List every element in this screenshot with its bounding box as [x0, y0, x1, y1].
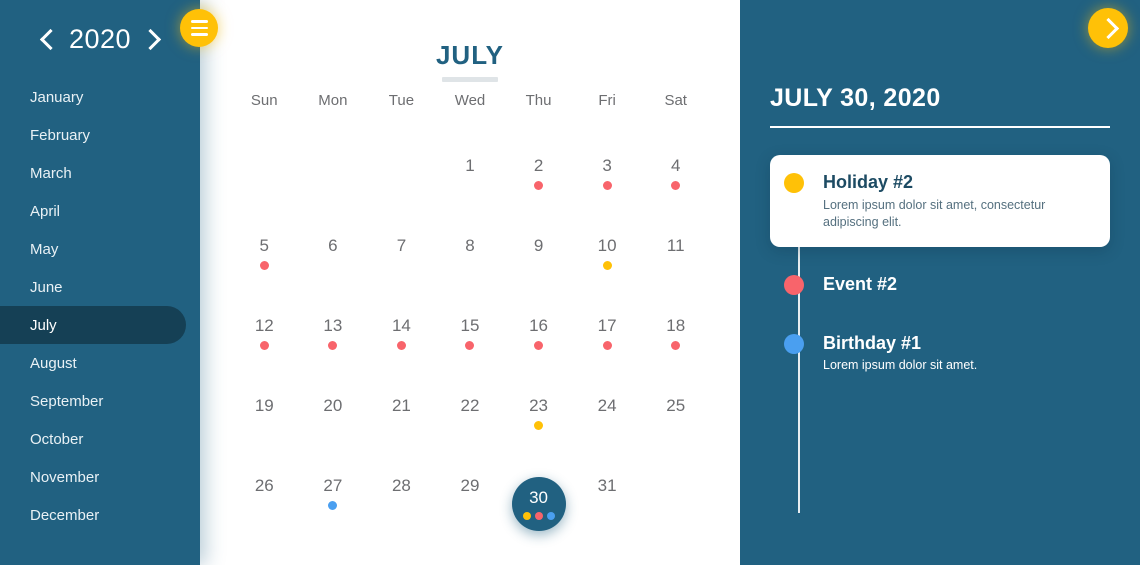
- calendar-day-4[interactable]: 4: [641, 140, 710, 220]
- event-dot-blue: [328, 501, 337, 510]
- sidebar-month-label: October: [30, 431, 83, 448]
- day-number: 26: [242, 476, 286, 496]
- sidebar-month-label: August: [30, 355, 77, 372]
- weekday-sun: Sun: [230, 92, 299, 109]
- sidebar-month-label: April: [30, 203, 60, 220]
- event-dot-red: [260, 341, 269, 350]
- calendar-day-9[interactable]: 9: [504, 220, 573, 300]
- calendar-day-8[interactable]: 8: [436, 220, 505, 300]
- calendar-day-26[interactable]: 26: [230, 460, 299, 540]
- hamburger-bar: [191, 20, 208, 23]
- sidebar-month-july[interactable]: July: [0, 306, 186, 344]
- detail-date-title: JULY 30, 2020: [770, 84, 941, 113]
- event-title: Holiday #2: [823, 171, 1092, 193]
- next-day-button[interactable]: [1088, 8, 1128, 48]
- detail-panel: JULY 30, 2020 Holiday #2Lorem ipsum dolo…: [740, 0, 1140, 565]
- weekday-header: SunMonTueWedThuFriSat: [230, 92, 710, 109]
- day-number: 10: [585, 236, 629, 256]
- calendar-day-13[interactable]: 13: [299, 300, 368, 380]
- sidebar-month-august[interactable]: August: [0, 344, 200, 382]
- sidebar-month-label: January: [30, 89, 83, 106]
- calendar-day-6[interactable]: 6: [299, 220, 368, 300]
- sidebar-month-december[interactable]: December: [0, 496, 200, 534]
- weekday-sat: Sat: [641, 92, 710, 109]
- day-event-dots: [465, 341, 474, 350]
- calendar-grid: 1234567891011121314151617181920212223242…: [230, 140, 710, 540]
- sidebar-month-march[interactable]: March: [0, 154, 200, 192]
- day-number: 18: [654, 316, 698, 336]
- sidebar: 2020 JanuaryFebruaryMarchAprilMayJuneJul…: [0, 0, 200, 565]
- event-body: Holiday #2Lorem ipsum dolor sit amet, co…: [823, 171, 1092, 231]
- calendar-day-15[interactable]: 15: [436, 300, 505, 380]
- calendar-day-10[interactable]: 10: [573, 220, 642, 300]
- hamburger-bar: [191, 33, 208, 36]
- event-item[interactable]: Birthday #1Lorem ipsum dolor sit amet.: [770, 324, 1120, 382]
- event-dot-blue: [784, 334, 804, 354]
- calendar-day-22[interactable]: 22: [436, 380, 505, 460]
- day-number: 11: [654, 236, 698, 256]
- year-navigator: 2020: [0, 16, 200, 62]
- calendar-day-18[interactable]: 18: [641, 300, 710, 380]
- day-number: 2: [517, 156, 561, 176]
- day-number: 17: [585, 316, 629, 336]
- calendar-day-29[interactable]: 29: [436, 460, 505, 540]
- event-row[interactable]: Event #2: [770, 265, 1110, 306]
- sidebar-month-january[interactable]: January: [0, 78, 200, 116]
- calendar-day-21[interactable]: 21: [367, 380, 436, 460]
- event-timeline: Holiday #2Lorem ipsum dolor sit amet, co…: [770, 155, 1120, 400]
- event-dot-red: [671, 341, 680, 350]
- day-number: 22: [448, 396, 492, 416]
- day-event-dots: [671, 341, 680, 350]
- day-number: 31: [585, 476, 629, 496]
- event-body: Birthday #1Lorem ipsum dolor sit amet.: [823, 332, 1092, 374]
- day-number: 7: [379, 236, 423, 256]
- calendar-day-25[interactable]: 25: [641, 380, 710, 460]
- event-dot-red: [534, 341, 543, 350]
- event-dot-red: [534, 181, 543, 190]
- hamburger-menu-button[interactable]: [180, 9, 218, 47]
- sidebar-month-label: May: [30, 241, 58, 258]
- calendar-day-31[interactable]: 31: [573, 460, 642, 540]
- event-dot-red: [603, 341, 612, 350]
- day-event-dots: [328, 341, 337, 350]
- event-dot-red: [535, 512, 543, 520]
- calendar-day-24[interactable]: 24: [573, 380, 642, 460]
- sidebar-month-label: November: [30, 469, 99, 486]
- event-card[interactable]: Holiday #2Lorem ipsum dolor sit amet, co…: [770, 155, 1110, 247]
- event-dot-red: [465, 341, 474, 350]
- weekday-fri: Fri: [573, 92, 642, 109]
- calendar-day-19[interactable]: 19: [230, 380, 299, 460]
- day-number: 28: [379, 476, 423, 496]
- sidebar-month-april[interactable]: April: [0, 192, 200, 230]
- day-number: 1: [448, 156, 492, 176]
- calendar-panel: JULY SunMonTueWedThuFriSat 1234567891011…: [200, 0, 740, 565]
- calendar-title-wrap: JULY: [200, 40, 740, 82]
- day-event-dots: [534, 341, 543, 350]
- calendar-day-5[interactable]: 5: [230, 220, 299, 300]
- day-event-dots: [328, 501, 337, 510]
- day-number: 14: [379, 316, 423, 336]
- day-number: 15: [448, 316, 492, 336]
- day-number: 13: [311, 316, 355, 336]
- calendar-app: 2020 JanuaryFebruaryMarchAprilMayJuneJul…: [0, 0, 1140, 565]
- calendar-day-17[interactable]: 17: [573, 300, 642, 380]
- day-event-dots: [603, 181, 612, 190]
- event-dot-red: [328, 341, 337, 350]
- calendar-day-16[interactable]: 16: [504, 300, 573, 380]
- event-dot-red: [603, 181, 612, 190]
- event-dot-red: [784, 275, 804, 295]
- sidebar-month-october[interactable]: October: [0, 420, 200, 458]
- year-label: 2020: [69, 24, 131, 55]
- calendar-day-23[interactable]: 23: [504, 380, 573, 460]
- day-event-dots: [260, 261, 269, 270]
- event-dot-blue: [547, 512, 555, 520]
- event-dot-red: [260, 261, 269, 270]
- sidebar-month-label: July: [30, 317, 57, 334]
- calendar-day-2[interactable]: 2: [504, 140, 573, 220]
- day-number: 20: [311, 396, 355, 416]
- hamburger-bar: [191, 27, 208, 30]
- day-number: 9: [517, 236, 561, 256]
- sidebar-month-november[interactable]: November: [0, 458, 200, 496]
- event-item[interactable]: Event #2: [770, 265, 1120, 306]
- event-dot-red: [397, 341, 406, 350]
- sidebar-month-label: March: [30, 165, 72, 182]
- day-number: 27: [311, 476, 355, 496]
- event-row[interactable]: Birthday #1Lorem ipsum dolor sit amet.: [770, 324, 1110, 382]
- day-number: 8: [448, 236, 492, 256]
- day-number: 24: [585, 396, 629, 416]
- calendar-day-7[interactable]: 7: [367, 220, 436, 300]
- calendar-month-title: JULY: [436, 40, 504, 77]
- event-dot-yellow: [523, 512, 531, 520]
- calendar-day-3[interactable]: 3: [573, 140, 642, 220]
- day-number: 4: [654, 156, 698, 176]
- calendar-day-11[interactable]: 11: [641, 220, 710, 300]
- detail-divider: [770, 126, 1110, 128]
- event-title: Birthday #1: [823, 332, 1092, 354]
- day-number: 25: [654, 396, 698, 416]
- weekday-thu: Thu: [504, 92, 573, 109]
- weekday-wed: Wed: [436, 92, 505, 109]
- selected-day-circle[interactable]: 30: [512, 477, 566, 531]
- day-number: 16: [517, 316, 561, 336]
- event-description: Lorem ipsum dolor sit amet.: [823, 357, 1092, 374]
- calendar-day-20[interactable]: 20: [299, 380, 368, 460]
- sidebar-month-september[interactable]: September: [0, 382, 200, 420]
- day-number: 19: [242, 396, 286, 416]
- event-dot-yellow: [603, 261, 612, 270]
- calendar-day-14[interactable]: 14: [367, 300, 436, 380]
- calendar-day-12[interactable]: 12: [230, 300, 299, 380]
- event-list: Holiday #2Lorem ipsum dolor sit amet, co…: [770, 155, 1120, 382]
- day-event-dots: [260, 341, 269, 350]
- calendar-day-27[interactable]: 27: [299, 460, 368, 540]
- day-number: 29: [448, 476, 492, 496]
- sidebar-month-june[interactable]: June: [0, 268, 200, 306]
- calendar-day-28[interactable]: 28: [367, 460, 436, 540]
- month-list: JanuaryFebruaryMarchAprilMayJuneJulyAugu…: [0, 78, 200, 534]
- event-title: Event #2: [823, 273, 1092, 295]
- day-number: 5: [242, 236, 286, 256]
- event-dot-yellow: [534, 421, 543, 430]
- event-item[interactable]: Holiday #2Lorem ipsum dolor sit amet, co…: [770, 155, 1120, 247]
- day-event-dots: [603, 341, 612, 350]
- calendar-day-1[interactable]: 1: [436, 140, 505, 220]
- event-description: Lorem ipsum dolor sit amet, consectetur …: [823, 197, 1092, 231]
- day-event-dots: [603, 261, 612, 270]
- sidebar-month-label: February: [30, 127, 90, 144]
- sidebar-month-may[interactable]: May: [0, 230, 200, 268]
- chevron-right-icon[interactable]: [144, 27, 159, 51]
- day-number: 30: [517, 488, 561, 508]
- sidebar-month-label: September: [30, 393, 103, 410]
- day-number: 23: [517, 396, 561, 416]
- day-number: 3: [585, 156, 629, 176]
- sidebar-month-february[interactable]: February: [0, 116, 200, 154]
- day-event-dots: [534, 421, 543, 430]
- day-event-dots: [671, 181, 680, 190]
- day-event-dots: [534, 181, 543, 190]
- day-event-dots: [397, 341, 406, 350]
- weekday-mon: Mon: [299, 92, 368, 109]
- weekday-tue: Tue: [367, 92, 436, 109]
- event-dot-yellow: [784, 173, 804, 193]
- event-dot-red: [671, 181, 680, 190]
- calendar-title-underline: [442, 77, 498, 82]
- sidebar-month-label: December: [30, 507, 99, 524]
- day-number: 12: [242, 316, 286, 336]
- event-body: Event #2: [823, 273, 1092, 298]
- day-number: 6: [311, 236, 355, 256]
- sidebar-month-label: June: [30, 279, 63, 296]
- calendar-day-30[interactable]: 30: [504, 460, 573, 540]
- chevron-left-icon[interactable]: [41, 27, 56, 51]
- day-number: 21: [379, 396, 423, 416]
- day-event-dots: [523, 511, 555, 520]
